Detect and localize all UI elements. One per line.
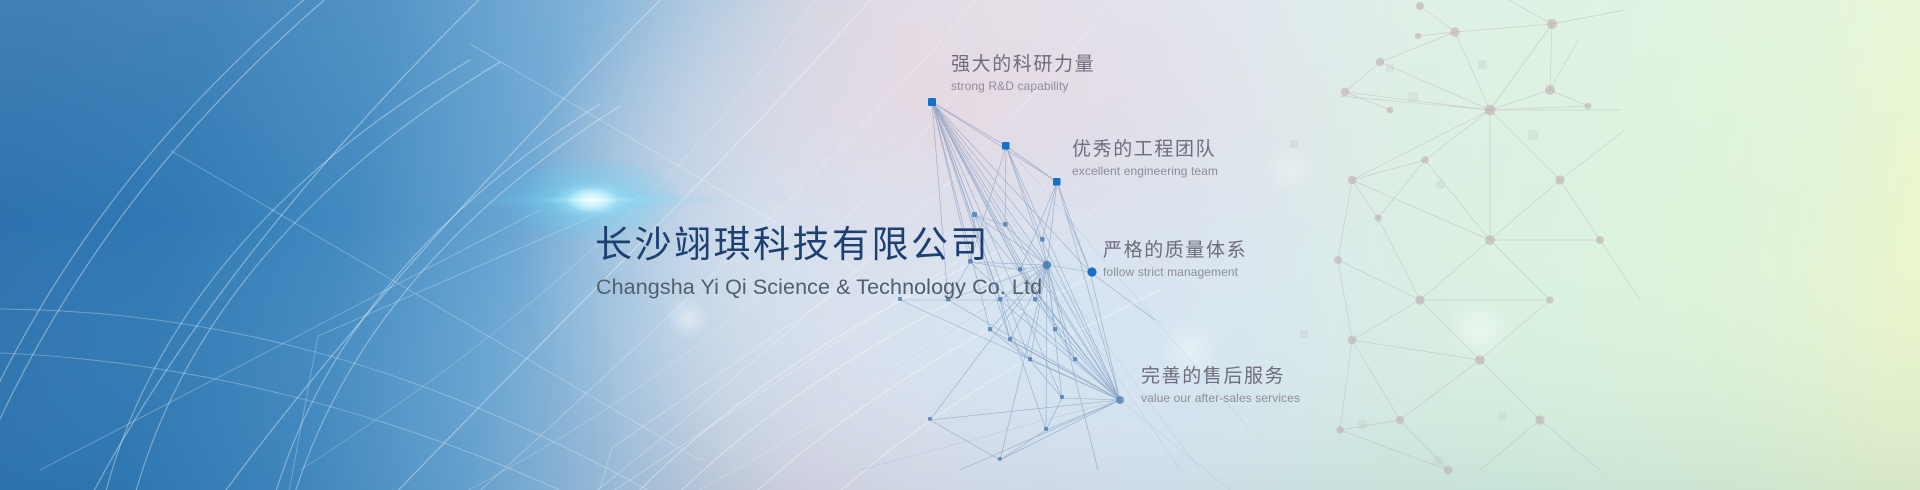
feature-label-en: follow strict management (1103, 265, 1247, 280)
company-name-en: Changsha Yi Qi Science & Technology Co. … (596, 274, 1042, 300)
feature-label-en: strong R&D capability (951, 79, 1095, 94)
feature-label-en: excellent engineering team (1072, 164, 1218, 179)
right-network-nodes (1334, 2, 1604, 474)
feature-label-engineering: 优秀的工程团队 excellent engineering team (1072, 137, 1218, 179)
hero-banner: 长沙翊琪科技有限公司 Changsha Yi Qi Science & Tech… (0, 0, 1920, 490)
company-title-block: 长沙翊琪科技有限公司 Changsha Yi Qi Science & Tech… (595, 222, 1042, 300)
feature-label-quality: 严格的质量体系 follow strict management (1103, 238, 1247, 280)
feature-label-service: 完善的售后服务 value our after-sales services (1141, 364, 1300, 406)
feature-label-rd: 强大的科研力量 strong R&D capability (951, 52, 1095, 94)
company-name-cn: 长沙翊琪科技有限公司 (595, 222, 1042, 268)
feature-label-cn: 完善的售后服务 (1141, 364, 1300, 388)
feature-label-cn: 优秀的工程团队 (1072, 137, 1218, 161)
feature-label-cn: 严格的质量体系 (1103, 238, 1247, 262)
feature-label-en: value our after-sales services (1141, 391, 1300, 406)
feature-label-cn: 强大的科研力量 (951, 52, 1095, 76)
